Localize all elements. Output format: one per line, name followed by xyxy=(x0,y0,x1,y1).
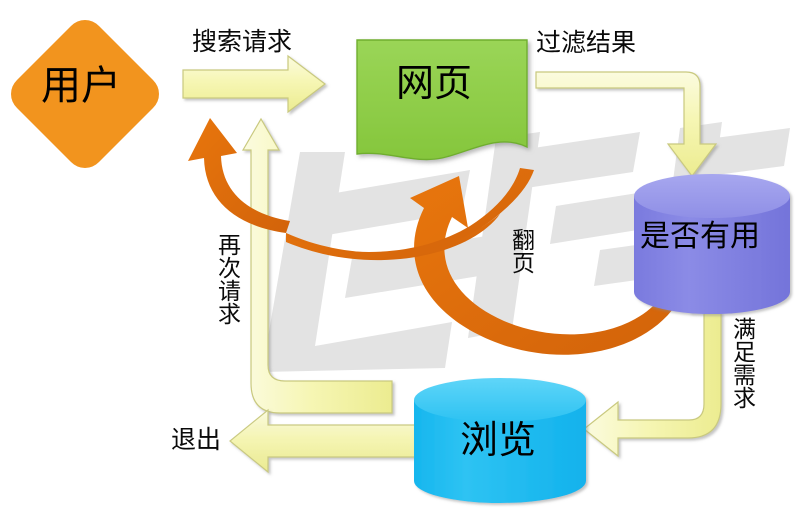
edge-label-search-request: 搜索请求 xyxy=(192,29,292,54)
node-webpage[interactable] xyxy=(357,40,527,160)
node-browse[interactable] xyxy=(414,378,586,503)
node-useful[interactable] xyxy=(634,174,790,314)
edge-search-request-arrow xyxy=(183,56,325,112)
diagram-canvas: 用户 网页 是否有用 浏览 搜索请求 过滤结果 满足需求 退出 再次请求 翻页 xyxy=(0,0,800,510)
diagram-svg xyxy=(0,0,800,510)
edge-label-turn-page: 翻页 xyxy=(508,228,531,274)
edge-label-meet-need: 满足需求 xyxy=(729,317,752,409)
edge-label-exit: 退出 xyxy=(171,427,221,452)
edge-label-request-again: 再次请求 xyxy=(214,233,237,325)
node-user[interactable] xyxy=(11,20,159,168)
edge-exit-arrow xyxy=(230,410,416,472)
edge-back-to-user-arrow xyxy=(188,118,290,233)
edge-label-filter-result: 过滤结果 xyxy=(536,30,636,55)
